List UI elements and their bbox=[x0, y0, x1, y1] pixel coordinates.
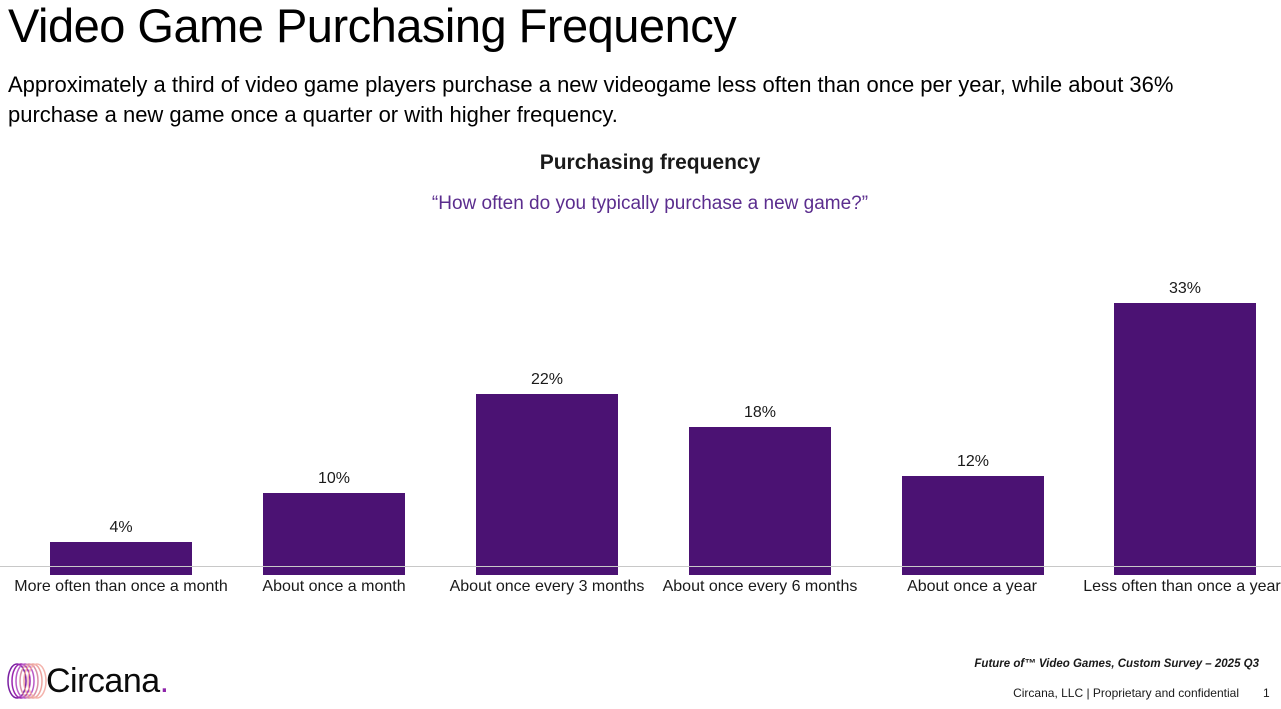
bar[interactable] bbox=[476, 394, 618, 575]
circana-wordmark: Circana. bbox=[46, 660, 169, 702]
bar-group: 22% bbox=[476, 255, 618, 575]
chart-question-subtitle: “How often do you typically purchase a n… bbox=[0, 193, 1281, 215]
bar-chart-plot-area: 4% 10% 22% 18% 12% 33% bbox=[0, 255, 1281, 575]
bar-group: 18% bbox=[689, 255, 831, 575]
bar[interactable] bbox=[263, 493, 405, 575]
x-tick-label: About once every 3 months bbox=[427, 578, 667, 596]
x-axis-line bbox=[0, 566, 1281, 567]
bar-group: 12% bbox=[902, 255, 1044, 575]
circana-wordmark-text: Circana bbox=[46, 662, 160, 700]
bar-group: 4% bbox=[50, 255, 192, 575]
bar-group: 10% bbox=[263, 255, 405, 575]
x-tick-label: About once a year bbox=[852, 578, 1092, 596]
footer-confidentiality-note: Circana, LLC | Proprietary and confident… bbox=[1013, 686, 1239, 700]
x-axis-tick-labels: More often than once a month About once … bbox=[0, 578, 1281, 602]
page-subtitle: Approximately a third of video game play… bbox=[8, 70, 1268, 130]
page-title: Video Game Purchasing Frequency bbox=[8, 0, 736, 54]
x-tick-label: More often than once a month bbox=[1, 578, 241, 596]
bar[interactable] bbox=[50, 542, 192, 575]
bar-group: 33% bbox=[1114, 255, 1256, 575]
x-tick-label: About once every 6 months bbox=[640, 578, 880, 596]
circana-logo: Circana. bbox=[6, 658, 206, 704]
footer-page-number: 1 bbox=[1263, 686, 1281, 700]
bar-value-label: 4% bbox=[50, 519, 192, 537]
footer-source-note: Future of™ Video Games, Custom Survey – … bbox=[974, 658, 1259, 670]
bar[interactable] bbox=[689, 427, 831, 575]
bar-value-label: 33% bbox=[1114, 280, 1256, 298]
bar-value-label: 10% bbox=[263, 470, 405, 488]
x-tick-label: About once a month bbox=[214, 578, 454, 596]
bar-value-label: 22% bbox=[476, 371, 618, 389]
x-tick-label: Less often than once a year bbox=[1062, 578, 1281, 596]
chart-title: Purchasing frequency bbox=[0, 151, 1281, 175]
bar-value-label: 18% bbox=[689, 404, 831, 422]
bar[interactable] bbox=[1114, 303, 1256, 575]
circana-wordmark-dot: . bbox=[160, 662, 169, 700]
bar-value-label: 12% bbox=[902, 453, 1044, 471]
bar[interactable] bbox=[902, 476, 1044, 575]
